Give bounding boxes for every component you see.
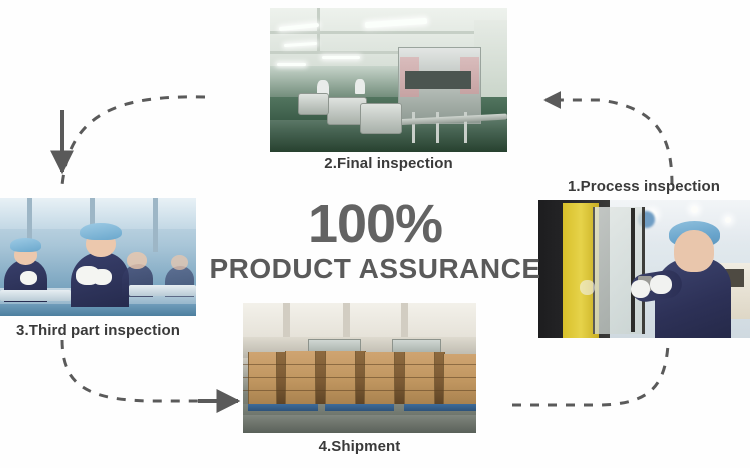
machine-window — [405, 71, 471, 88]
photo-shipment — [243, 303, 476, 433]
ceiling-light — [322, 56, 360, 59]
ceiling-beam — [270, 51, 417, 54]
headline-percent: 100% — [0, 196, 750, 252]
floor-reflection — [243, 415, 476, 433]
machine-leg — [412, 112, 415, 144]
caption-third-party-inspection: 3.Third part inspection — [0, 322, 196, 339]
carton-stack — [248, 352, 278, 404]
arrow-final-to-third-party — [62, 97, 205, 185]
carton-stack — [443, 354, 476, 405]
panel-final-inspection[interactable] — [270, 8, 507, 152]
worker-figure — [355, 79, 364, 95]
arrow-third-party-to-shipment — [62, 340, 198, 401]
carton-stack — [404, 352, 436, 404]
process-cart — [298, 93, 328, 115]
blue-pallet — [404, 404, 476, 411]
ceiling-beam — [270, 31, 507, 34]
caption-process-inspection: 1.Process inspection — [538, 178, 750, 195]
carton-seam — [243, 364, 476, 365]
headline-subtitle: PRODUCT ASSURANCE — [0, 252, 750, 286]
blue-pallet — [325, 404, 395, 411]
carton-stack — [364, 352, 396, 404]
process-cart — [360, 103, 402, 134]
caption-shipment: 4.Shipment — [243, 438, 476, 455]
panel-shipment[interactable] — [243, 303, 476, 433]
product-tray — [129, 285, 196, 296]
caption-final-inspection: 2.Final inspection — [270, 155, 507, 172]
arrow-shipment-to-process — [512, 345, 668, 405]
arrow-process-to-final — [545, 100, 672, 185]
ceiling-beam — [317, 8, 320, 51]
carton-seam — [243, 390, 476, 391]
infographic-canvas: 2.Final inspection 1.Process — [0, 0, 750, 468]
center-headline-block: 100% PRODUCT ASSURANCE — [0, 196, 750, 286]
blue-pallet — [248, 404, 318, 411]
ceiling-light — [277, 63, 305, 66]
product-tray — [0, 290, 71, 301]
photo-final-inspection — [270, 8, 507, 152]
carton-seam — [243, 377, 476, 378]
